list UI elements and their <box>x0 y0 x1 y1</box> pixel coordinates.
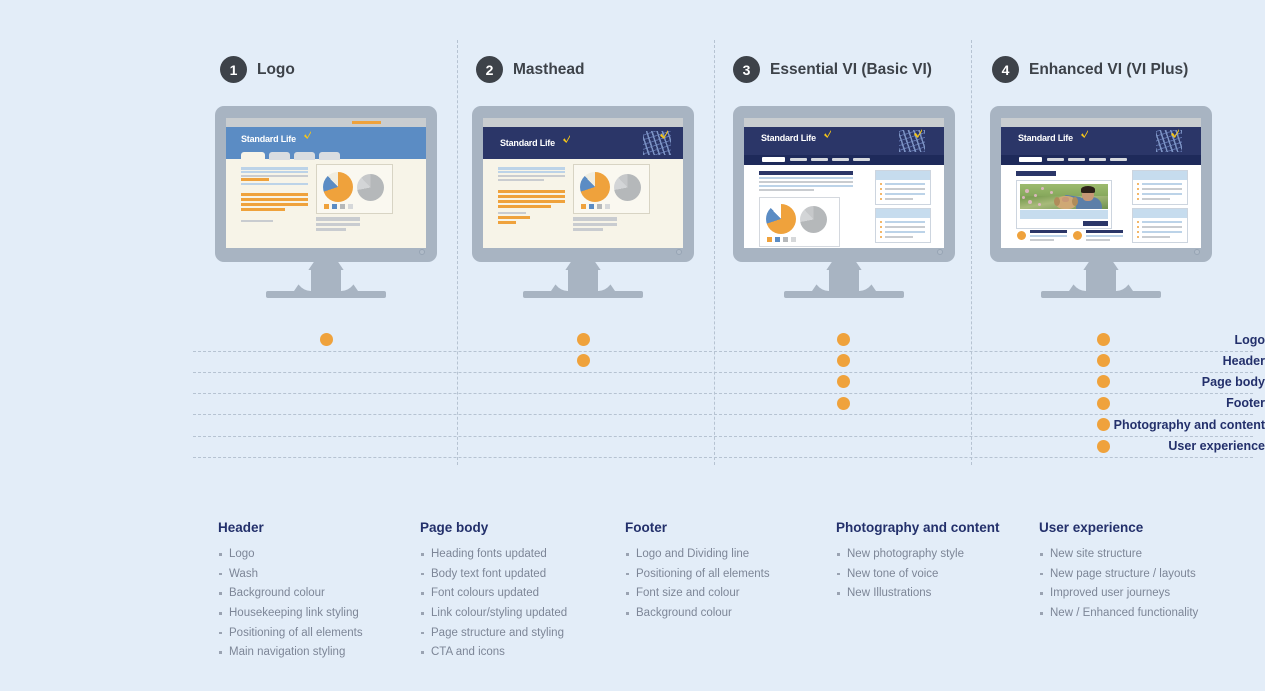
bullet-dot-icon <box>1137 183 1139 185</box>
matrix-dot-c4-user-experience <box>1097 440 1110 453</box>
hero-caption-band <box>1020 210 1108 219</box>
legend-item: CTA and icons <box>420 645 567 660</box>
legend-group-photography: Photography and content New photography … <box>836 520 1000 606</box>
pie-chart-orange <box>323 172 353 202</box>
matrix-dot-c4-page-body <box>1097 375 1110 388</box>
monitor-neck <box>294 262 358 291</box>
sidebar-line <box>885 226 925 228</box>
browser-chrome <box>744 118 944 127</box>
chrome-bar-grey-2 <box>403 121 418 124</box>
body-line <box>498 190 565 193</box>
body-line <box>498 212 526 214</box>
legend-item: Font size and colour <box>625 586 770 601</box>
body-line <box>241 178 269 181</box>
sidebar-line <box>885 231 925 233</box>
monitor-screen: Standard Life <box>1001 118 1201 248</box>
sidebar-panel-header <box>1133 209 1187 218</box>
promo-line <box>1086 235 1123 237</box>
matrix-dot-c4-logo <box>1097 333 1110 346</box>
sidebar-line <box>885 198 913 200</box>
sidebar-line <box>885 188 925 190</box>
sidebar-line <box>1142 231 1182 233</box>
column-header-4: 4 Enhanced VI (VI Plus) <box>992 56 1188 83</box>
matrix-rule <box>193 393 1253 394</box>
body-line <box>241 171 308 173</box>
nav-item[interactable] <box>1047 158 1064 161</box>
legend-item: Main navigation styling <box>218 645 363 660</box>
matrix-rule <box>193 372 1253 373</box>
nav-tab[interactable] <box>294 152 315 160</box>
chart-legend-swatch <box>791 237 796 242</box>
column-divider-3 <box>971 40 972 465</box>
sidebar-line <box>885 221 925 223</box>
browser-chrome <box>1001 118 1201 127</box>
matrix-dot-c3-page-body <box>837 375 850 388</box>
legend-item: Font colours updated <box>420 586 567 601</box>
main-navigation-bar <box>744 155 944 165</box>
legend-list: Logo and Dividing line Positioning of al… <box>625 547 770 621</box>
sidebar-line <box>1142 193 1182 195</box>
pie-chart-grey <box>614 174 641 201</box>
body-line <box>498 171 565 173</box>
chart-legend-swatch <box>775 237 780 242</box>
matrix-dot-c4-photography <box>1097 418 1110 431</box>
dog-ear <box>1072 197 1078 206</box>
monitor-stand-base <box>266 291 386 298</box>
power-led-icon <box>676 249 682 255</box>
sidebar-line <box>885 183 925 185</box>
monitor-3: Standard Life <box>733 106 955 301</box>
matrix-dot-c3-footer <box>837 397 850 410</box>
pie-chart-orange <box>580 172 610 202</box>
body-line <box>241 167 308 170</box>
pie-chart-orange <box>766 204 796 234</box>
sidebar-panel-2 <box>1132 208 1188 243</box>
sidebar-line <box>885 193 925 195</box>
chart-panel <box>759 197 840 247</box>
matrix-dot-c2-header <box>577 354 590 367</box>
hero-cta-button[interactable] <box>1083 221 1108 226</box>
caption-line <box>573 223 617 226</box>
sidebar-panel-header <box>876 171 930 180</box>
nav-item[interactable] <box>832 158 849 161</box>
legend-item: Logo and Dividing line <box>625 547 770 562</box>
power-led-icon <box>937 249 943 255</box>
sidebar-line <box>885 236 913 238</box>
legend-item: Improved user journeys <box>1039 586 1198 601</box>
legend-item: Background colour <box>625 606 770 621</box>
caption-line <box>573 217 617 221</box>
sidebar-panel-header <box>876 209 930 218</box>
body-line <box>759 177 853 179</box>
legend-item: New site structure <box>1039 547 1198 562</box>
matrix-dot-c2-logo <box>577 333 590 346</box>
monitor-neck <box>1069 262 1133 291</box>
promo-line <box>1030 239 1054 241</box>
column-number-badge: 1 <box>220 56 247 83</box>
caption-line <box>316 223 360 226</box>
nav-item[interactable] <box>1089 158 1106 161</box>
matrix-rule <box>193 351 1253 352</box>
masthead-hatch-graphic <box>643 131 671 155</box>
bullet-dot-icon <box>1137 188 1139 190</box>
sidebar-line <box>1142 198 1170 200</box>
body-line <box>241 208 285 211</box>
nav-item[interactable] <box>790 158 807 161</box>
chart-legend-swatch <box>767 237 772 242</box>
caption-line <box>573 228 603 231</box>
matrix-dot-c4-footer <box>1097 397 1110 410</box>
bullet-dot-icon <box>880 236 882 238</box>
brand-logo: Standard Life <box>241 134 296 144</box>
column-divider-2 <box>714 40 715 465</box>
body-line <box>498 221 516 224</box>
bullet-dot-icon <box>880 231 882 233</box>
chart-legend-swatch <box>332 204 337 209</box>
dog-ear <box>1054 197 1060 206</box>
bullet-dot-icon <box>880 183 882 185</box>
legend-item: Link colour/styling updated <box>420 606 567 621</box>
column-divider-1 <box>457 40 458 465</box>
brand-logo: Standard Life <box>761 133 816 143</box>
bullet-dot-icon <box>1137 198 1139 200</box>
body-line <box>241 193 308 196</box>
hero-photo <box>1020 184 1108 209</box>
legend-item: New / Enhanced functionality <box>1039 606 1198 621</box>
chart-legend-swatch <box>581 204 586 209</box>
bullet-dot-icon <box>1137 221 1139 223</box>
legend-item: New Illustrations <box>836 586 1000 601</box>
person-hair <box>1081 186 1095 193</box>
nav-item-active[interactable] <box>1019 157 1042 162</box>
body-line <box>759 181 853 183</box>
chart-legend-swatch <box>324 204 329 209</box>
browser-chrome <box>483 118 683 127</box>
chart-legend-swatch <box>589 204 594 209</box>
body-line <box>241 198 308 201</box>
nav-item-active[interactable] <box>762 157 785 162</box>
bullet-dot-icon <box>880 188 882 190</box>
nav-tab-active[interactable] <box>241 152 265 160</box>
bullet-dot-icon <box>880 198 882 200</box>
legend-list: Heading fonts updated Body text font upd… <box>420 547 567 661</box>
legend-item: Positioning of all elements <box>625 567 770 582</box>
column-number-badge: 3 <box>733 56 760 83</box>
legend-item: Wash <box>218 567 363 582</box>
person-hand <box>1062 197 1069 202</box>
sidebar-line <box>1142 221 1182 223</box>
nav-item[interactable] <box>811 158 828 161</box>
column-title: Enhanced VI (VI Plus) <box>1029 61 1188 79</box>
infographic-canvas: 1 Logo 2 Masthead 3 Essential VI (Basic … <box>0 0 1265 691</box>
legend-item: New photography style <box>836 547 1000 562</box>
legend-item: Housekeeping link styling <box>218 606 363 621</box>
body-line <box>498 195 565 198</box>
brand-logo: Standard Life <box>1018 133 1073 143</box>
promo-line <box>1030 230 1067 233</box>
masthead-hatch-graphic <box>899 130 925 152</box>
column-title: Essential VI (Basic VI) <box>770 61 932 79</box>
power-led-icon <box>1194 249 1200 255</box>
legend-title: Page body <box>420 520 567 535</box>
legend-title: Photography and content <box>836 520 1000 535</box>
bullet-dot-icon <box>1137 231 1139 233</box>
pie-chart-grey <box>357 174 384 201</box>
legend-title: Header <box>218 520 363 535</box>
sidebar-line <box>1142 226 1182 228</box>
monitor-2: Standard Life <box>472 106 694 301</box>
matrix-dot-c3-logo <box>837 333 850 346</box>
legend-item: Heading fonts updated <box>420 547 567 562</box>
brand-logo: Standard Life <box>500 138 555 148</box>
monitor-neck <box>551 262 615 291</box>
legend-list: New photography style New tone of voice … <box>836 547 1000 602</box>
legend-item: Page structure and styling <box>420 626 567 641</box>
sidebar-line <box>1142 236 1170 238</box>
sidebar-panel-1 <box>875 170 931 205</box>
legend-item: Body text font updated <box>420 567 567 582</box>
pie-chart-grey <box>800 206 827 233</box>
body-line <box>498 200 565 203</box>
hero-card <box>1016 180 1112 229</box>
legend-group-header: Header Logo Wash Background colour House… <box>218 520 363 665</box>
body-line <box>498 175 565 177</box>
power-led-icon <box>419 249 425 255</box>
column-title: Masthead <box>513 61 585 79</box>
bullet-dot-icon <box>880 221 882 223</box>
monitor-screen: Standard Life <box>483 118 683 248</box>
sidebar-line <box>1142 183 1182 185</box>
matrix-dot-c3-header <box>837 354 850 367</box>
body-line <box>759 189 814 191</box>
page-heading-bar <box>1016 171 1056 176</box>
body-line <box>241 183 308 185</box>
promo-line <box>1086 239 1110 241</box>
legend-group-user-experience: User experience New site structure New p… <box>1039 520 1198 626</box>
browser-chrome <box>226 118 426 127</box>
monitor-stand-base <box>784 291 904 298</box>
legend-list: Logo Wash Background colour Housekeeping… <box>218 547 363 661</box>
matrix-rule <box>193 457 1253 458</box>
monitor-screen: Standard Life <box>744 118 944 248</box>
column-header-3: 3 Essential VI (Basic VI) <box>733 56 932 83</box>
legend-list: New site structure New page structure / … <box>1039 547 1198 621</box>
matrix-rule <box>193 436 1253 437</box>
promo-line <box>1030 235 1067 237</box>
monitor-screen: Standard Life <box>226 118 426 248</box>
masthead-hatch-graphic <box>1156 130 1182 152</box>
chrome-bar-grey-1 <box>385 121 400 124</box>
matrix-dot-c4-header <box>1097 354 1110 367</box>
promo-icon <box>1017 231 1026 240</box>
legend-title: Footer <box>625 520 770 535</box>
nav-item[interactable] <box>853 158 870 161</box>
sidebar-line <box>1142 188 1182 190</box>
legend-item: New page structure / layouts <box>1039 567 1198 582</box>
monitor-1: Standard Life <box>215 106 437 301</box>
bullet-dot-icon <box>1137 236 1139 238</box>
nav-tab[interactable] <box>269 152 290 160</box>
legend-group-footer: Footer Logo and Dividing line Positionin… <box>625 520 770 626</box>
chart-legend-swatch <box>783 237 788 242</box>
sidebar-panel-header <box>1133 171 1187 180</box>
chrome-bar-orange <box>352 121 381 124</box>
main-navigation-bar <box>1001 155 1201 165</box>
column-number-badge: 2 <box>476 56 503 83</box>
chart-legend-swatch <box>340 204 345 209</box>
bullet-dot-icon <box>880 193 882 195</box>
promo-icon <box>1073 231 1082 240</box>
body-line <box>241 203 308 206</box>
monitor-stand-base <box>523 291 643 298</box>
nav-item[interactable] <box>1068 158 1085 161</box>
column-header-2: 2 Masthead <box>476 56 585 83</box>
column-title: Logo <box>257 61 295 79</box>
monitor-4: Standard Life <box>990 106 1212 301</box>
page-heading-bar <box>759 171 853 175</box>
body-line <box>498 167 565 170</box>
body-line <box>759 185 853 187</box>
body-line <box>498 179 544 181</box>
bullet-dot-icon <box>1137 226 1139 228</box>
sidebar-panel-2 <box>875 208 931 243</box>
chart-legend-swatch <box>348 204 353 209</box>
chart-panel <box>573 164 650 214</box>
column-number-badge: 4 <box>992 56 1019 83</box>
body-line <box>498 216 530 219</box>
body-line <box>498 205 551 208</box>
bullet-dot-icon <box>880 226 882 228</box>
matrix-rule <box>193 414 1253 415</box>
matrix-dot-c1-logo <box>320 333 333 346</box>
chart-legend-swatch <box>605 204 610 209</box>
caption-line <box>316 228 346 231</box>
chart-legend-swatch <box>597 204 602 209</box>
sidebar-panel-1 <box>1132 170 1188 205</box>
legend-item: Background colour <box>218 586 363 601</box>
chart-panel <box>316 164 393 214</box>
legend-item: New tone of voice <box>836 567 1000 582</box>
body-line <box>241 220 273 222</box>
nav-item[interactable] <box>1110 158 1127 161</box>
legend-item: Logo <box>218 547 363 562</box>
monitor-neck <box>812 262 876 291</box>
monitor-stand-base <box>1041 291 1161 298</box>
legend-item: Positioning of all elements <box>218 626 363 641</box>
legend-group-page-body: Page body Heading fonts updated Body tex… <box>420 520 567 665</box>
body-line <box>241 175 308 177</box>
nav-tab[interactable] <box>319 152 340 160</box>
caption-line <box>316 217 360 221</box>
bullet-dot-icon <box>1137 193 1139 195</box>
promo-line <box>1086 230 1123 233</box>
legend-title: User experience <box>1039 520 1198 535</box>
column-header-1: 1 Logo <box>220 56 295 83</box>
